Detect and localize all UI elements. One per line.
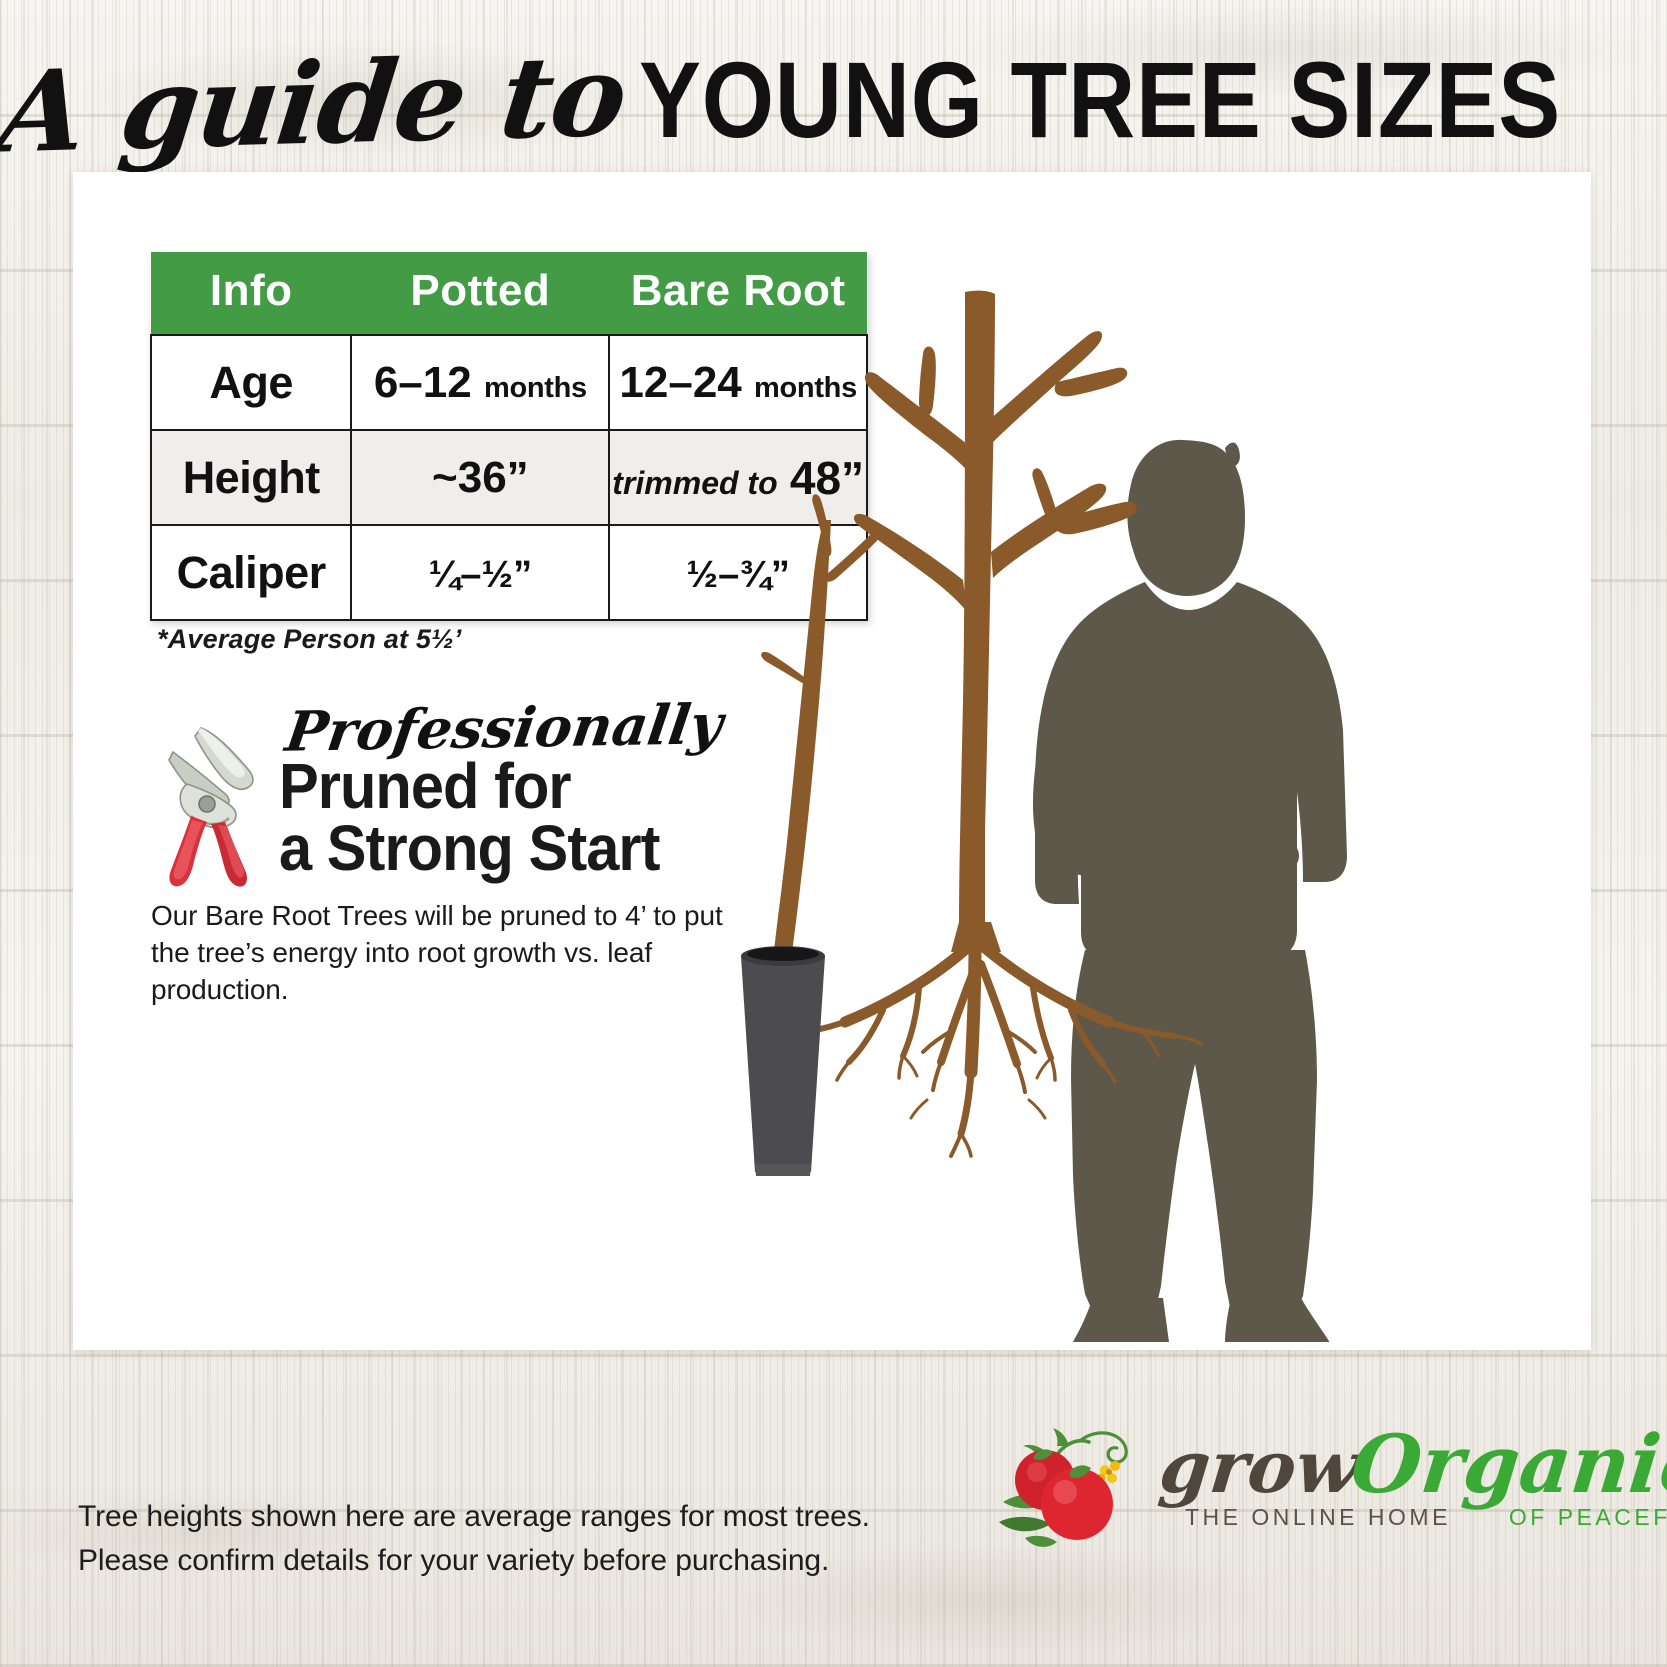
nursery-pot — [741, 956, 825, 1172]
pruned-bold-line-2: a Strong Start — [279, 817, 716, 879]
cell-height-potted: ~36” — [351, 430, 609, 525]
cell-age-potted: 6–12 months — [351, 335, 609, 430]
logo-word-grow: grow — [1156, 1431, 1362, 1503]
cell-caliper-potted-value: ¼–½” — [429, 554, 533, 596]
footer-disclaimer: Tree heights shown here are average rang… — [78, 1495, 870, 1582]
content-card: Info Potted Bare Root Age 6–12 months 12… — [73, 172, 1591, 1350]
cell-age-potted-unit: months — [484, 372, 587, 404]
page-title: A guide toYOUNG TREE SIZES — [0, 46, 1667, 161]
logo-tagline: THE ONLINE HOMEOF PEACEFUL VALLEY — [1185, 1504, 1667, 1531]
page-title-caps: YOUNG TREE SIZES — [639, 46, 1561, 154]
potted-tree-trunk — [773, 520, 831, 962]
row-label-age: Age — [151, 335, 351, 430]
person-silhouette — [1033, 440, 1347, 1342]
pruning-shears-icon — [151, 712, 281, 892]
cell-age-potted-value: 6–12 — [374, 358, 472, 407]
cell-height-potted-value: ~36” — [432, 453, 529, 502]
grow-organic-logo[interactable]: growOrganic.com THE ONLINE HOMEOF PEACEF… — [985, 1400, 1585, 1560]
pruned-body-text: Our Bare Root Trees will be pruned to 4’… — [151, 898, 751, 1009]
pruned-body-line-2: the tree’s energy into root growth vs. l… — [151, 935, 751, 1009]
tomato-vine-icon — [985, 1418, 1175, 1558]
row-label-height: Height — [151, 430, 351, 525]
page-title-script: A guide to — [0, 40, 631, 169]
table-footnote: *Average Person at 5½’ — [157, 624, 462, 655]
column-header-potted: Potted — [351, 252, 609, 335]
tree-size-illustration — [713, 232, 1543, 1342]
footer-disclaimer-line-2: Please confirm details for your variety … — [78, 1539, 870, 1583]
footer-disclaimer-line-1: Tree heights shown here are average rang… — [78, 1495, 870, 1539]
pruned-body-line-1: Our Bare Root Trees will be pruned to 4’… — [151, 898, 751, 935]
potted-tree-illustration — [741, 494, 883, 1176]
logo-tagline-part-2: OF PEACEFUL VALLEY — [1509, 1504, 1667, 1530]
pruned-heading: Professionally Pruned for a Strong Start — [279, 700, 749, 879]
cell-caliper-potted: ¼–½” — [351, 525, 609, 620]
logo-tagline-part-1: THE ONLINE HOME — [1185, 1504, 1451, 1530]
pruned-bold-line-1: Pruned for — [279, 755, 716, 817]
logo-wordmark: growOrganic.com — [1160, 1424, 1667, 1504]
row-label-caliper: Caliper — [151, 525, 351, 620]
logo-word-organic: Organic — [1348, 1424, 1667, 1504]
column-header-info: Info — [151, 252, 351, 335]
